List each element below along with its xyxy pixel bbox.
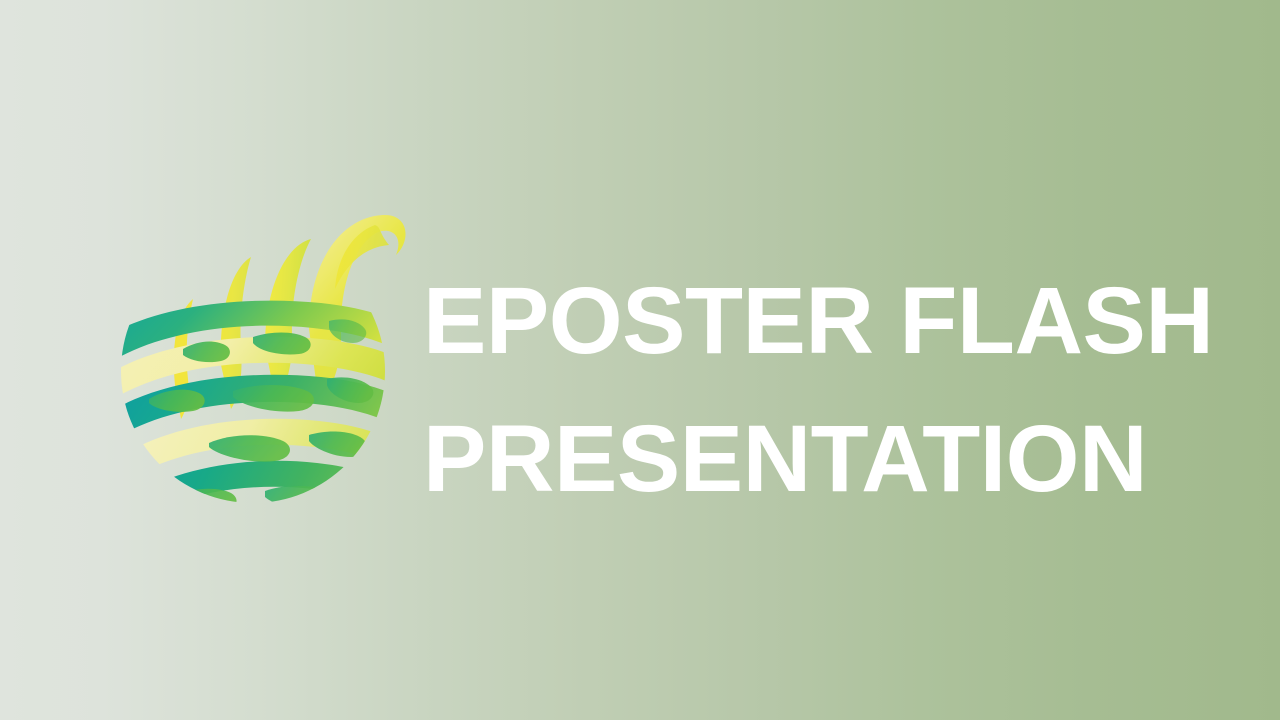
spiral-globe-logo [113, 203, 411, 515]
title-line-1: EPOSTER FLASH [423, 252, 1223, 390]
slide-title: EPOSTER FLASH PRESENTATION [423, 252, 1223, 528]
presentation-slide: EPOSTER FLASH PRESENTATION [0, 0, 1280, 720]
title-line-2: PRESENTATION [423, 390, 1223, 528]
